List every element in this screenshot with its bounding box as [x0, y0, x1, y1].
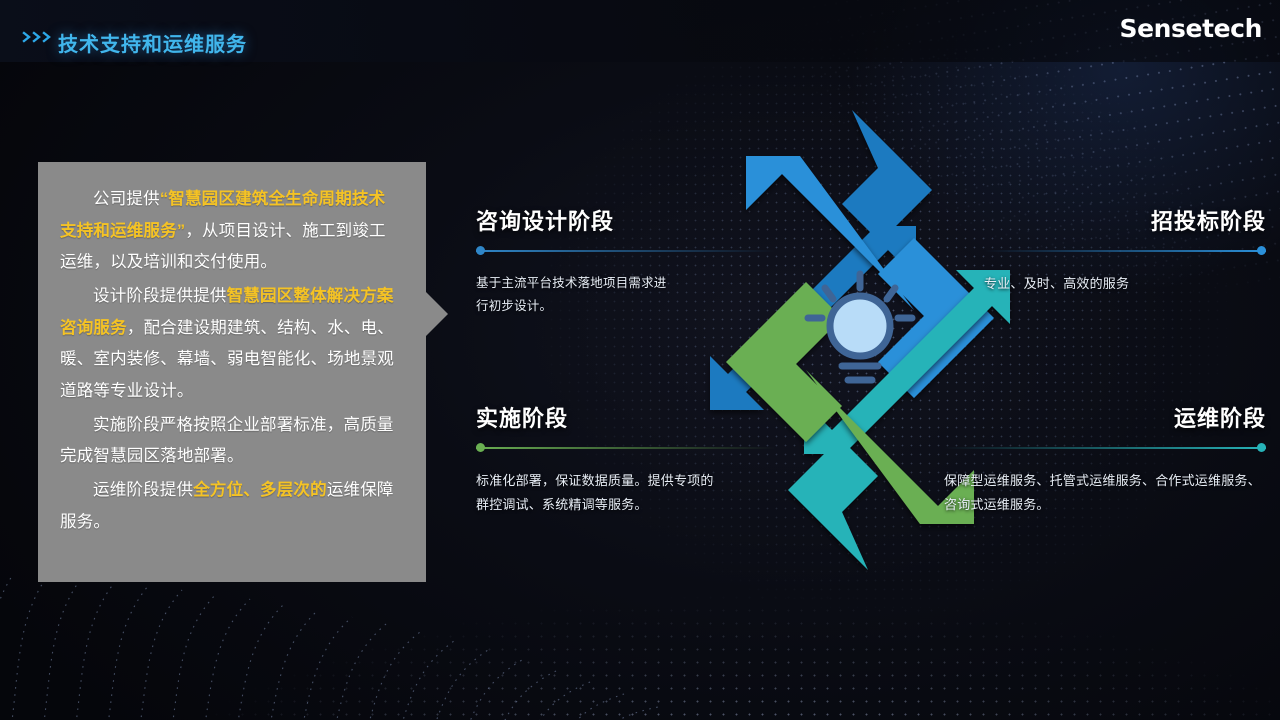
body-text: 设计阶段提供提供 [93, 287, 227, 305]
stage-rule-line [476, 447, 776, 449]
lightbulb-icon [798, 268, 922, 398]
stage-rule-dot [1257, 443, 1266, 452]
page-title: 技术支持和运维服务 [58, 28, 247, 57]
description-paragraph: 公司提供“智慧园区建筑全生命周期技术支持和运维服务”，从项目设计、施工到竣工运维… [60, 184, 402, 279]
description-paragraph: 运维阶段提供全方位、多层次的运维保障服务。 [60, 475, 402, 538]
body-text: 公司提供 [93, 190, 160, 208]
stage-rule-ops [944, 443, 1266, 453]
stage-desc-ops: 保障型运维服务、托管式运维服务、合作式运维服务、咨询式运维服务。 [944, 469, 1266, 517]
stage-block-ops: 运维阶段 保障型运维服务、托管式运维服务、合作式运维服务、咨询式运维服务。 [944, 401, 1266, 517]
description-panel: 公司提供“智慧园区建筑全生命周期技术支持和运维服务”，从项目设计、施工到竣工运维… [38, 162, 426, 582]
panel-pointer-triangle [426, 292, 448, 336]
triple-chevron-right-icon [22, 31, 54, 43]
stage-title-ops: 运维阶段 [944, 401, 1266, 433]
highlighted-text: 全方位、多层次的 [193, 481, 327, 499]
stage-rule-consult [476, 246, 776, 256]
stage-title-bid: 招投标阶段 [984, 204, 1266, 236]
stage-rule-impl [476, 443, 776, 453]
header-bar: 技术支持和运维服务 Sensetech [0, 0, 1280, 62]
slide-root: 技术支持和运维服务 Sensetech 公司提供“智慧园区建筑全生命周期技术支持… [0, 0, 1280, 720]
stage-rule-dot [476, 246, 485, 255]
brand-logo: Sensetech [1119, 14, 1262, 43]
stage-rule-bid [984, 246, 1266, 256]
stage-rule-line [944, 447, 1266, 449]
stage-rule-line [476, 250, 776, 252]
description-panel-text: 公司提供“智慧园区建筑全生命周期技术支持和运维服务”，从项目设计、施工到竣工运维… [60, 184, 402, 538]
body-text: 运维阶段提供 [93, 481, 193, 499]
stage-desc-impl: 标准化部署，保证数据质量。提供专项的群控调试、系统精调等服务。 [476, 469, 726, 517]
stage-desc-consult: 基于主流平台技术落地项目需求进行初步设计。 [476, 272, 676, 318]
stage-rule-dot [1257, 246, 1266, 255]
description-paragraph: 实施阶段严格按照企业部署标准，高质量完成智慧园区落地部署。 [60, 410, 402, 473]
stage-title-impl: 实施阶段 [476, 401, 776, 433]
stage-rule-line [984, 250, 1266, 252]
stage-block-consult: 咨询设计阶段 基于主流平台技术落地项目需求进行初步设计。 [476, 204, 776, 318]
body-text: 实施阶段严格按照企业部署标准，高质量完成智慧园区落地部署。 [60, 416, 394, 466]
stage-rule-dot [476, 443, 485, 452]
stage-block-bid: 招投标阶段 专业、及时、高效的服务 [984, 204, 1266, 296]
description-paragraph: 设计阶段提供提供智慧园区整体解决方案咨询服务，配合建设期建筑、结构、水、电、暖、… [60, 281, 402, 408]
stage-block-impl: 实施阶段 标准化部署，保证数据质量。提供专项的群控调试、系统精调等服务。 [476, 401, 776, 517]
stage-title-consult: 咨询设计阶段 [476, 204, 776, 236]
stage-desc-bid: 专业、及时、高效的服务 [984, 272, 1266, 296]
